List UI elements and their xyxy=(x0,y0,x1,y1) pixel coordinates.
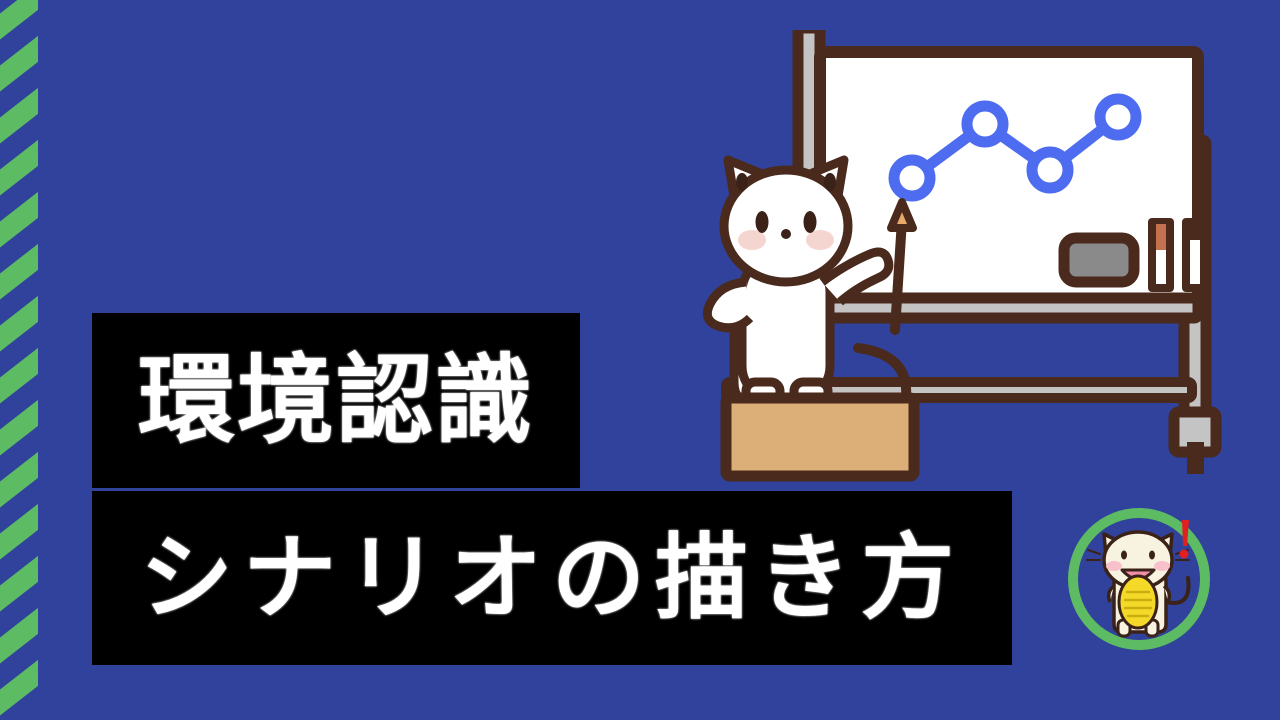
cat-ear-dot-right xyxy=(824,173,836,191)
channel-avatar-badge xyxy=(1058,498,1220,660)
chart-point xyxy=(1100,99,1136,135)
chart-point xyxy=(894,160,930,196)
thumbnail-canvas: 環境認識 シナリオの描き方 xyxy=(0,0,1280,720)
cat-ear-dot-left xyxy=(736,173,748,191)
title-line-2: シナリオの描き方 xyxy=(140,532,964,625)
cat-eye-left xyxy=(756,211,769,233)
eraser-icon xyxy=(1064,238,1134,282)
whiteboard-tray-shelf xyxy=(802,298,1198,318)
cat-nose xyxy=(781,229,791,239)
illustration-scene xyxy=(690,30,1230,490)
cat-cheek-left xyxy=(738,230,766,250)
avatar-cat xyxy=(1087,532,1189,636)
title-plate-secondary: シナリオの描き方 xyxy=(92,491,1012,665)
cat-eye-right xyxy=(804,211,817,233)
title-plate-primary: 環境認識 xyxy=(92,313,580,488)
title-line-1: 環境認識 xyxy=(138,352,534,449)
marker-orange-icon xyxy=(1148,218,1174,292)
chart-point xyxy=(1032,152,1068,188)
wooden-box xyxy=(726,398,914,476)
marker-white-icon xyxy=(1182,218,1208,292)
avatar-yellow-item xyxy=(1119,576,1157,628)
cat-cheek-right xyxy=(806,230,834,250)
chart-point xyxy=(967,106,1003,142)
decorative-stripe-band xyxy=(0,0,38,720)
cat-left-arm xyxy=(707,282,750,328)
